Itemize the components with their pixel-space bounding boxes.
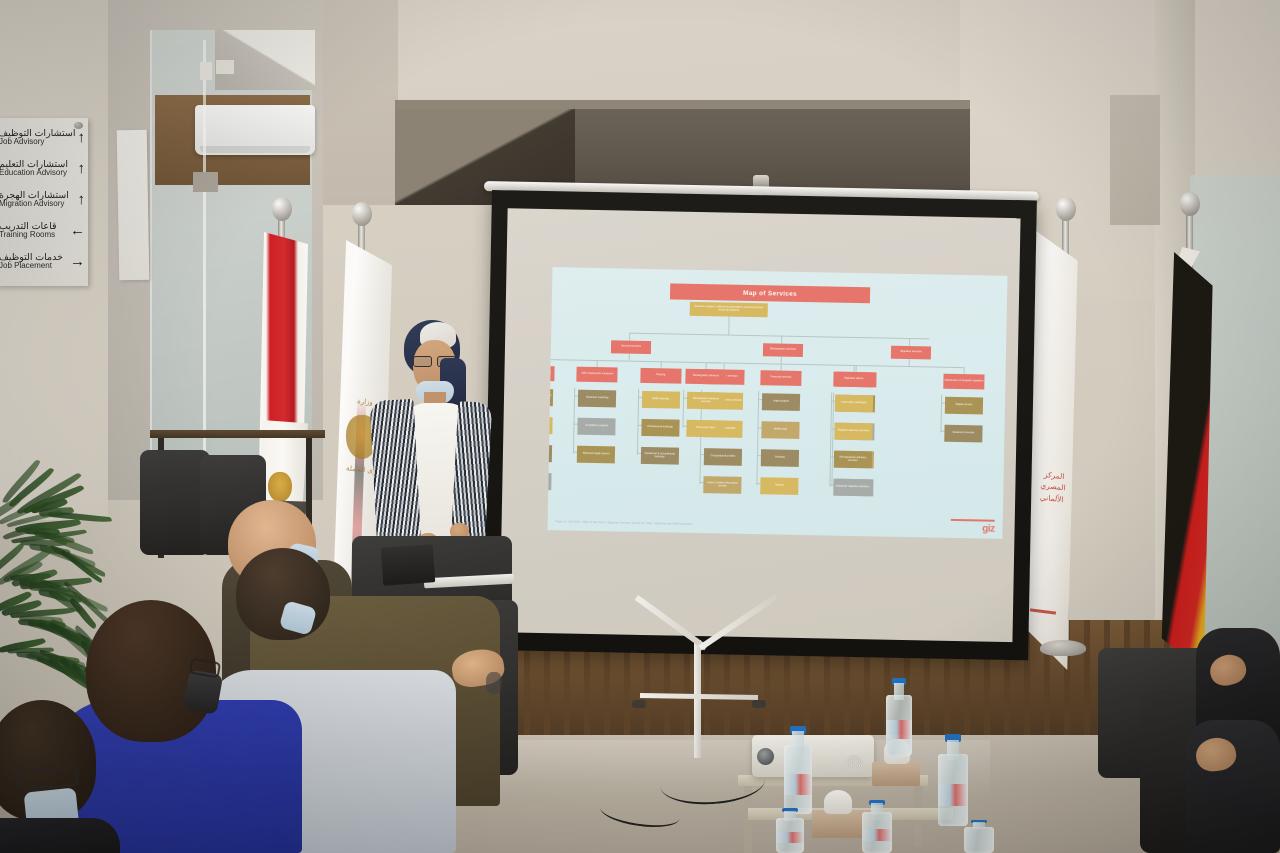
sign-row-3: استشارات الهجرةMigration Advisory↑: [0, 184, 85, 215]
attendee-eyeglasses-held: [486, 672, 502, 694]
diagram-connector: [629, 333, 929, 340]
diagram-connector: [728, 317, 729, 335]
slide-footer-text: Page 4 | GIZ 2021 | Map of Services / Eg…: [556, 520, 692, 526]
water-bottle-mid-left[interactable]: [784, 726, 812, 814]
diagram-connector: [781, 336, 782, 344]
diagram-node: Career coaching: [547, 444, 552, 462]
screen-roller-hook-icon: [753, 175, 769, 187]
water-bottle-right[interactable]: [938, 734, 968, 826]
wayfinding-sign: استشارات التوظيفJob Advisory↑استشارات ال…: [0, 118, 88, 286]
diagram-node: Reintegration advisory: [685, 369, 726, 385]
soffit-lip: [395, 100, 970, 109]
egypt-flag-eagle-emblem-icon: [268, 472, 292, 502]
diagram-node: Identity: [760, 477, 798, 495]
giz-logo: giz: [982, 523, 995, 534]
bottle-label: [862, 829, 892, 842]
projected-slide: Map of ServicesServices, support, referr…: [547, 267, 1007, 539]
flagpole-finial-egypt-icon: [272, 197, 292, 221]
wall-slat: [1070, 620, 1084, 745]
presentation-room-photograph: استشارات التوظيفJob Advisory↑استشارات ال…: [0, 0, 1280, 853]
glass-safety-sticker: [216, 60, 234, 74]
wall-return-left: [320, 0, 398, 205]
sign-row-text: استشارات الهجرةMigration Advisory: [0, 191, 69, 209]
diagram-connector: [629, 333, 630, 341]
flagpole-finial-institution-icon: [352, 202, 372, 226]
diagram-connector: [909, 359, 910, 366]
sign-row-text: قاعات التدريبTraining Rooms: [0, 222, 57, 240]
diagram-connector: [660, 361, 661, 368]
diagram-node: Information packages: [835, 395, 873, 413]
eyeglass-lens-left: [413, 356, 432, 367]
diagram-node: Migration services: [891, 346, 931, 360]
sign-row-text: استشارات التعليمEducation Advisory: [0, 160, 68, 178]
diagram-connector: [756, 391, 759, 485]
diagram-node: Information fairs: [686, 420, 724, 438]
wall-notice-paper: [117, 130, 150, 281]
diagram-node: Migration advisory services: [834, 423, 872, 441]
flagpole-finial-giz-icon: [1056, 197, 1076, 221]
diagram-node: Skills trainings: [642, 391, 680, 409]
screen-stand-foot-left: [632, 700, 646, 708]
screen-matte-surface: Map of ServicesServices, support, referr…: [500, 208, 1021, 642]
projection-screen: Map of ServicesServices, support, referr…: [483, 190, 1037, 660]
bottle-label: [886, 720, 912, 739]
diagram-connector: [547, 359, 723, 363]
diagram-node: Financial services: [760, 370, 801, 386]
diagram-node: Vocational & occupational trainings: [640, 447, 678, 465]
water-bottle-front-mid[interactable]: [862, 800, 892, 853]
tissue-puff-lower: [824, 790, 852, 814]
diagram-node: Services, support, referral for jobseeke…: [690, 302, 768, 317]
sign-english-label: Migration Advisory: [0, 200, 69, 208]
projector-exhaust-grill-icon: [846, 755, 863, 772]
water-bottle-front-right[interactable]: [964, 820, 994, 853]
glass-safety-sticker-2: [200, 62, 212, 80]
background-table-top: [150, 430, 325, 438]
projector-lens-icon: [757, 748, 774, 765]
diagram-node: Reintegration services: [763, 343, 803, 357]
sign-direction-arrow-icon: →: [68, 254, 85, 269]
partner-flag-arabic-text: المركز المصري الألماني: [1028, 468, 1077, 506]
diagram-node: Occupational profiles: [704, 448, 742, 466]
sign-row-5: خدمات التوظيفJob Placement→: [0, 246, 85, 277]
diagram-connector: [781, 364, 782, 371]
sign-english-label: Job Placement: [0, 262, 63, 270]
sign-row-2: استشارات التعليمEducation Advisory↑: [0, 153, 85, 184]
sign-direction-arrow-icon: ←: [68, 223, 85, 238]
diagram-connector: [724, 362, 725, 369]
diagram-connector: [909, 338, 910, 346]
bottle-label: [776, 832, 804, 843]
diagram-node: Job fairs: [547, 416, 552, 434]
sign-english-label: Training Rooms: [0, 231, 57, 239]
air-conditioner-vent: [200, 146, 310, 153]
diagram-connector: [856, 365, 857, 372]
diagram-connector: [706, 362, 707, 369]
screen-stand-foot-right: [752, 700, 766, 708]
sign-row-text: خدمات التوظيفJob Placement: [0, 253, 63, 271]
flagpole-base-giz: [1040, 640, 1086, 656]
sign-direction-arrow-icon: ↑: [76, 161, 86, 176]
sign-direction-arrow-icon: ↑: [76, 130, 86, 145]
water-bottle-front-left[interactable]: [776, 808, 804, 853]
diagram-node: Self employment measures: [577, 367, 618, 383]
water-bottle-back[interactable]: [886, 678, 912, 756]
right-wall-recess: [1110, 95, 1160, 225]
flagpole-finial-germany-icon: [1180, 192, 1200, 216]
diagram-node: Legal support: [762, 393, 800, 411]
diagram-node: Housing: [761, 449, 799, 467]
laptop-lid[interactable]: [381, 544, 436, 586]
diagram-node: Incubation program: [578, 418, 616, 436]
diagram-connector: [573, 388, 575, 454]
diagram-connector: [682, 390, 684, 428]
diagram-node: Labour market information events: [703, 476, 741, 494]
sign-english-label: Job Advisory: [0, 138, 76, 146]
diagram-connector: [854, 365, 855, 372]
diagram-node: Training: [640, 368, 681, 384]
attendee-right-front-torso: [1186, 720, 1280, 853]
diagram-node: Matching & placement fairs & jobs: [547, 388, 553, 406]
bottle-label: [938, 784, 968, 806]
bottle-body: [964, 827, 994, 853]
diagram-node: General services: [611, 340, 651, 354]
glass-door-mullion: [203, 40, 206, 495]
diagram-connector: [637, 389, 639, 455]
diagram-node: Reintegration advisory services: [687, 392, 725, 410]
diagram-connector: [629, 354, 630, 361]
diagram-node: Wage employment measures: [547, 365, 554, 381]
diagram-node: Awareness on irregular migration: [943, 374, 984, 390]
sign-row-text: استشارات التوظيفJob Advisory: [0, 129, 76, 147]
diagram-node: Digital content: [945, 397, 983, 415]
bottle-label: [784, 774, 812, 795]
sign-row-4: قاعات التدريبTraining Rooms←: [0, 215, 85, 246]
diagram-node: Migration advice: [833, 372, 874, 388]
sign-row-1: استشارات التوظيفJob Advisory↑: [0, 122, 85, 153]
glass-door-handle[interactable]: [193, 172, 218, 192]
giz-rule: [951, 519, 995, 522]
diagram-node: Professional trainings: [641, 419, 679, 437]
tissue-box-upper: [872, 762, 920, 786]
diagram-node: Advanced migration advisory: [833, 479, 871, 497]
slide-title: Map of Services: [670, 283, 870, 303]
diagram-node: Apprenticeship & internship: [547, 472, 551, 490]
sign-english-label: Education Advisory: [0, 169, 68, 177]
diagram-node: Sessions & events: [944, 425, 982, 443]
sign-screw-icon: [74, 122, 83, 129]
diagram-node: Business coaching: [578, 390, 616, 408]
diagram-connector: [781, 357, 782, 364]
diagram-connector: [940, 395, 942, 433]
diagram-node: Health care: [761, 421, 799, 439]
diagram-connector: [597, 360, 598, 367]
diagram-node: Pre-departure advisory services: [834, 451, 872, 469]
attendee-front-left-body: [0, 818, 120, 853]
diagram-node: Business legal support: [577, 446, 615, 464]
sign-direction-arrow-icon: ↑: [76, 192, 86, 207]
diagram-connector: [964, 367, 965, 374]
